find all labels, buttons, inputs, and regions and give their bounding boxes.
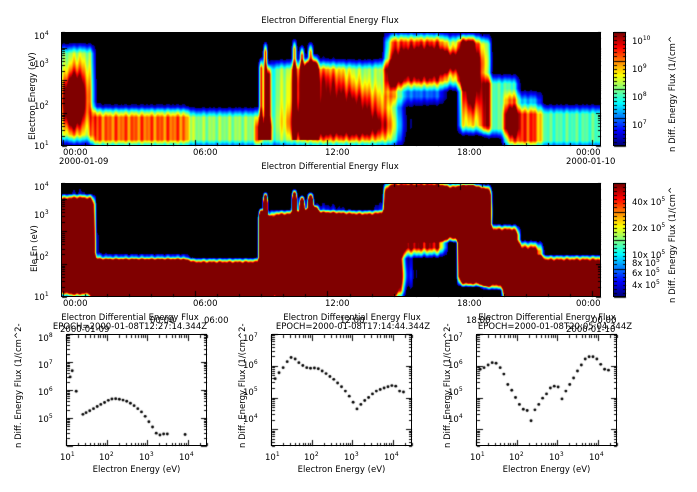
middle-xtick-1: 00:00 (63, 299, 88, 309)
bottom2-xtick-1: 101 (265, 450, 280, 463)
bottom3-xlabel: Electron Energy (eV) (476, 465, 617, 475)
bottom3-xtick-2: 102 (509, 450, 524, 463)
bottom1-subtitle: EPOCH=2000-01-08T12:27:14.344Z (25, 322, 235, 332)
top-colorbar-tick-2: 108 (632, 90, 647, 103)
middle-colorbar-tick-5: 20x 105 (632, 221, 665, 234)
top-panel-title: Electron Differential Energy Flux (180, 16, 480, 26)
middle-panel-ylabel: Ele En (eV) (30, 225, 40, 272)
bottom3-xtick-4: 104 (589, 450, 604, 463)
bottom2-scatter (272, 335, 411, 445)
bottom1-ytick-4: 108 (38, 331, 53, 344)
bottom2-subtitle: EPOCH=2000-01-08T17:14:44.344Z (248, 322, 458, 332)
bottom1-ylabel: n Diff. Energy Flux (1/(cm^2- (14, 323, 24, 448)
bottom3-ytick-2: 105 (448, 385, 463, 398)
bottom3-xtick-3: 103 (549, 450, 564, 463)
bottom2-xlabel: Electron Energy (eV) (271, 465, 412, 475)
bottom1-xtick-1: 101 (60, 450, 75, 463)
top-ytick-4: 104 (34, 29, 49, 42)
top-ytick-2: 102 (34, 99, 49, 112)
bottom1-ytick-1: 105 (38, 412, 53, 425)
middle-ytick-2: 102 (34, 250, 49, 263)
top-xtick-3: 12:00 (325, 148, 350, 158)
middle-xtick-4: 18:00 (457, 299, 482, 309)
figure-canvas: Electron Differential Energy Flux Electr… (0, 0, 697, 492)
top-xtick-4: 18:00 (457, 148, 482, 158)
middle-colorbar-label: n Diff. Energy Flux (1/(cm^ (668, 187, 678, 303)
top-ytick-1: 101 (34, 139, 49, 152)
middle-spectrogram (62, 184, 600, 296)
middle-colorbar-tick-2: 6x 105 (632, 266, 660, 279)
top-xtick-5-date: 2000-01-10 (566, 157, 615, 167)
middle-xtick-2: 06:00 (193, 299, 218, 309)
bottom2-ytick-3: 106 (243, 358, 258, 371)
bottom3-xtick-1: 101 (470, 450, 485, 463)
bottom2-ytick-1: 104 (243, 412, 258, 425)
bottom1-xtick-4: 104 (179, 450, 194, 463)
bottom1-ytick-3: 107 (38, 358, 53, 371)
bottom3-ytick-4: 107 (448, 331, 463, 344)
bottom3-scatter (477, 335, 616, 445)
middle-panel-title: Electron Differential Energy Flux (180, 162, 480, 172)
top-ytick-3: 103 (34, 57, 49, 70)
bottom1-xtick-3: 103 (139, 450, 154, 463)
bottom1-xtick-2: 102 (99, 450, 114, 463)
top-colorbar-tick-3: 109 (632, 62, 647, 75)
top-colorbar-frame (613, 32, 626, 146)
bottom2-xtick-4: 104 (384, 450, 399, 463)
bottom3-ytick-3: 106 (448, 358, 463, 371)
bottom2-ytick-4: 107 (243, 331, 258, 344)
middle-ytick-1: 101 (34, 290, 49, 303)
bottom2-xtick-2: 102 (304, 450, 319, 463)
bottom2-ytick-2: 105 (243, 385, 258, 398)
middle-colorbar-tick-1: 4x 105 (632, 278, 660, 291)
middle-ytick-3: 103 (34, 208, 49, 221)
bottom2-xtick-3: 103 (344, 450, 359, 463)
middle-xtick-3: 12:00 (325, 299, 350, 309)
middle-colorbar-tick-6: 40x 105 (632, 195, 665, 208)
top-spectrogram (62, 33, 600, 145)
middle-ytick-4: 104 (34, 180, 49, 193)
bottom3-subtitle: EPOCH=2000-01-08T20:05:04.344Z (450, 322, 660, 332)
top-xtick-2: 06:00 (193, 148, 218, 158)
top-colorbar-tick-1: 107 (632, 118, 647, 131)
top-xtick-1-date: 2000-01-09 (59, 157, 108, 167)
bottom1-ytick-2: 106 (38, 385, 53, 398)
bottom1-xlabel: Electron Energy (eV) (66, 465, 207, 475)
middle-xtick-5: 00:00 (576, 299, 601, 309)
middle-colorbar-frame (613, 183, 626, 297)
top-colorbar-label: n Diff. Energy Flux (1/(cm^ (668, 36, 678, 152)
bottom1-scatter (67, 335, 206, 445)
top-colorbar-tick-4: 1010 (632, 34, 650, 47)
bottom3-ytick-1: 104 (448, 412, 463, 425)
